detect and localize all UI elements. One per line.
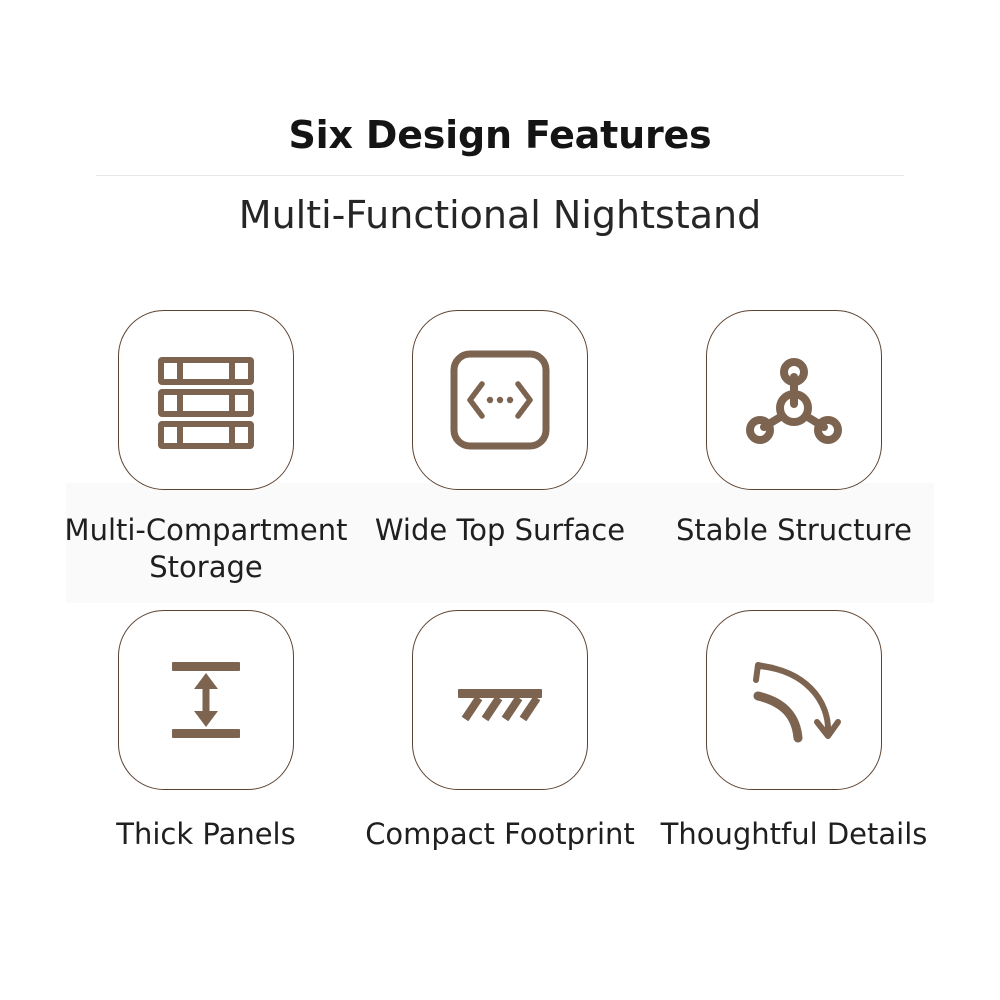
horizontal-width-arrows-icon — [448, 348, 552, 452]
feature-item-thoughtful-details[interactable]: Thoughtful Details — [647, 610, 941, 853]
feature-icon-tile — [412, 610, 588, 790]
feature-item-stable-structure[interactable]: Stable Structure — [647, 310, 941, 586]
feature-item-multi-compartment-storage[interactable]: Multi-Compartment Storage — [59, 310, 353, 586]
title-divider — [96, 175, 904, 176]
feature-row-bottom: Thick Panels — [0, 610, 1000, 853]
feature-icon-tile — [706, 310, 882, 490]
feature-infographic-page: Six Design Features Multi-Functional Nig… — [0, 0, 1000, 1000]
feature-caption: Multi-Compartment Storage — [61, 512, 351, 586]
feature-caption: Thoughtful Details — [649, 816, 939, 853]
vertical-thickness-arrow-icon — [154, 648, 258, 752]
feature-icon-tile — [118, 610, 294, 790]
page-title: Six Design Features — [0, 113, 1000, 157]
feature-row-top: Multi-Compartment Storage — [0, 310, 1000, 586]
feature-item-thick-panels[interactable]: Thick Panels — [59, 610, 353, 853]
stacked-drawers-icon — [154, 348, 258, 452]
feature-icon-tile — [118, 310, 294, 490]
feature-icon-tile-wrapper[interactable]: Compact Footprint — [353, 610, 647, 853]
curved-double-arrow-icon — [742, 648, 846, 752]
feature-caption: Thick Panels — [61, 816, 351, 853]
hatched-bar-icon — [448, 648, 552, 752]
page-header: Six Design Features Multi-Functional Nig… — [0, 0, 1000, 260]
feature-icon-tile — [706, 610, 882, 790]
feature-item-wide-top-surface[interactable]: Wide Top Surface — [353, 310, 647, 586]
feature-caption: Compact Footprint — [355, 816, 645, 853]
page-subtitle: Multi-Functional Nightstand — [0, 191, 1000, 239]
feature-caption: Stable Structure — [649, 512, 939, 549]
feature-caption: Wide Top Surface — [355, 512, 645, 549]
feature-icon-tile — [412, 310, 588, 490]
molecule-node-structure-icon — [742, 348, 846, 452]
